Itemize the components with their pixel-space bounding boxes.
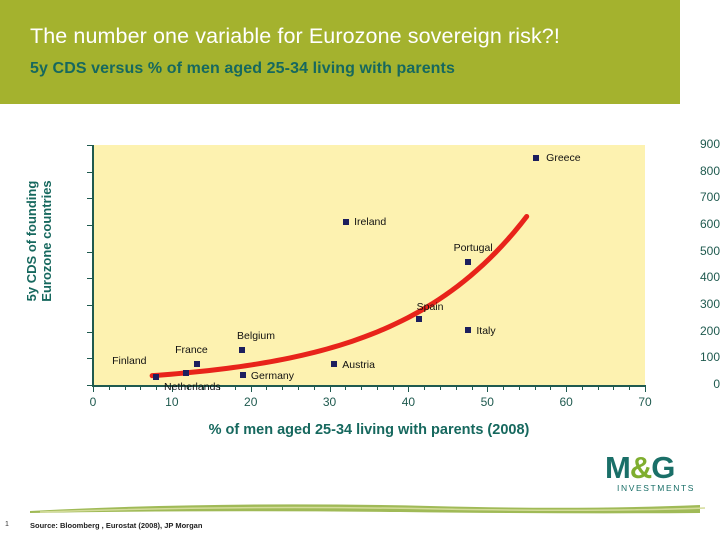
y-tick-label: 100 bbox=[642, 350, 720, 364]
logo-letter-m: M bbox=[605, 450, 630, 485]
x-minor-tick-mark bbox=[314, 387, 315, 390]
x-minor-tick-mark bbox=[393, 387, 394, 390]
data-point-marker bbox=[239, 347, 245, 353]
y-tick-label: 0 bbox=[642, 377, 720, 391]
data-point-marker bbox=[153, 374, 159, 380]
data-point-label: Greece bbox=[546, 152, 580, 164]
x-tick-label: 60 bbox=[546, 395, 586, 409]
x-minor-tick-mark bbox=[472, 387, 473, 390]
x-minor-tick-mark bbox=[156, 387, 157, 390]
data-point-label: Ireland bbox=[354, 216, 386, 228]
x-minor-tick-mark bbox=[282, 387, 283, 390]
y-tick-label: 500 bbox=[642, 244, 720, 258]
data-point-label: Belgium bbox=[237, 330, 275, 342]
x-tick-mark bbox=[251, 387, 252, 392]
x-minor-tick-mark bbox=[109, 387, 110, 390]
data-point-label: France bbox=[175, 344, 208, 356]
x-minor-tick-mark bbox=[298, 387, 299, 390]
y-tick-mark bbox=[87, 172, 92, 173]
logo-ampersand: & bbox=[630, 450, 651, 485]
x-minor-tick-mark bbox=[125, 387, 126, 390]
y-axis-title-line2: Eurozone countries bbox=[39, 180, 54, 301]
x-minor-tick-mark bbox=[377, 387, 378, 390]
x-minor-tick-mark bbox=[361, 387, 362, 390]
logo-tagline: INVESTMENTS bbox=[617, 483, 705, 493]
x-tick-mark bbox=[408, 387, 409, 392]
x-minor-tick-mark bbox=[140, 387, 141, 390]
footer-swoosh-graphic bbox=[0, 500, 720, 514]
data-point-label: Netherlands bbox=[164, 381, 221, 393]
y-tick-label: 600 bbox=[642, 217, 720, 231]
x-tick-label: 70 bbox=[625, 395, 665, 409]
x-minor-tick-mark bbox=[456, 387, 457, 390]
x-axis-title: % of men aged 25-34 living with parents … bbox=[93, 422, 645, 438]
data-point-marker bbox=[194, 361, 200, 367]
y-tick-mark bbox=[87, 332, 92, 333]
data-point-label: Germany bbox=[251, 370, 294, 382]
x-tick-label: 40 bbox=[388, 395, 428, 409]
y-axis-title-line1: 5y CDS of founding bbox=[24, 181, 39, 302]
x-tick-mark bbox=[487, 387, 488, 392]
plot-layer: 0100200300400500600700800900010203040506… bbox=[0, 104, 720, 444]
y-tick-mark bbox=[87, 145, 92, 146]
source-note: Source: Bloomberg , Eurostat (2008), JP … bbox=[30, 521, 202, 530]
x-tick-mark bbox=[93, 387, 94, 392]
x-tick-label: 10 bbox=[152, 395, 192, 409]
x-tick-label: 30 bbox=[310, 395, 350, 409]
x-minor-tick-mark bbox=[424, 387, 425, 390]
y-tick-label: 200 bbox=[642, 324, 720, 338]
y-tick-label: 400 bbox=[642, 270, 720, 284]
data-point-label: Finland bbox=[112, 355, 146, 367]
data-point-marker bbox=[183, 370, 189, 376]
y-tick-label: 300 bbox=[642, 297, 720, 311]
x-minor-tick-mark bbox=[503, 387, 504, 390]
y-tick-label: 900 bbox=[642, 137, 720, 151]
logo-letter-g: G bbox=[651, 450, 674, 485]
y-axis-title: 5y CDS of founding Eurozone countries bbox=[24, 126, 54, 356]
x-tick-mark bbox=[645, 387, 646, 392]
x-tick-label: 50 bbox=[467, 395, 507, 409]
data-point-marker bbox=[343, 219, 349, 225]
page-number: 1 bbox=[5, 521, 9, 528]
page-subtitle: 5y CDS versus % of men aged 25-34 living… bbox=[30, 60, 455, 78]
x-tick-label: 0 bbox=[73, 395, 113, 409]
y-tick-label: 700 bbox=[642, 190, 720, 204]
x-minor-tick-mark bbox=[266, 387, 267, 390]
x-minor-tick-mark bbox=[519, 387, 520, 390]
y-tick-mark bbox=[87, 278, 92, 279]
y-tick-mark bbox=[87, 225, 92, 226]
x-tick-label: 20 bbox=[231, 395, 271, 409]
data-point-marker bbox=[416, 316, 422, 322]
page-title: The number one variable for Eurozone sov… bbox=[30, 24, 560, 49]
logo-wordmark: M&G bbox=[605, 452, 705, 484]
data-point-marker bbox=[240, 372, 246, 378]
chart-container: 0100200300400500600700800900010203040506… bbox=[0, 104, 720, 444]
data-point-label: Austria bbox=[342, 359, 375, 371]
y-axis-line bbox=[92, 145, 94, 386]
data-point-marker bbox=[533, 155, 539, 161]
x-minor-tick-mark bbox=[535, 387, 536, 390]
y-tick-mark bbox=[87, 305, 92, 306]
y-tick-mark bbox=[87, 358, 92, 359]
x-minor-tick-mark bbox=[345, 387, 346, 390]
y-tick-mark bbox=[87, 385, 92, 386]
data-point-label: Portugal bbox=[454, 242, 493, 254]
data-point-marker bbox=[331, 361, 337, 367]
data-point-marker bbox=[465, 259, 471, 265]
x-minor-tick-mark bbox=[629, 387, 630, 390]
data-point-marker bbox=[465, 327, 471, 333]
x-minor-tick-mark bbox=[613, 387, 614, 390]
data-point-label: Spain bbox=[417, 301, 444, 313]
title-band bbox=[0, 0, 680, 104]
data-point-label: Italy bbox=[476, 325, 495, 337]
swoosh-svg bbox=[0, 500, 720, 514]
y-tick-mark bbox=[87, 252, 92, 253]
x-minor-tick-mark bbox=[582, 387, 583, 390]
x-minor-tick-mark bbox=[550, 387, 551, 390]
x-minor-tick-mark bbox=[598, 387, 599, 390]
y-tick-label: 800 bbox=[642, 164, 720, 178]
x-tick-mark bbox=[566, 387, 567, 392]
x-minor-tick-mark bbox=[235, 387, 236, 390]
x-tick-mark bbox=[330, 387, 331, 392]
x-minor-tick-mark bbox=[440, 387, 441, 390]
mg-investments-logo: M&G INVESTMENTS bbox=[605, 452, 705, 500]
y-tick-mark bbox=[87, 198, 92, 199]
